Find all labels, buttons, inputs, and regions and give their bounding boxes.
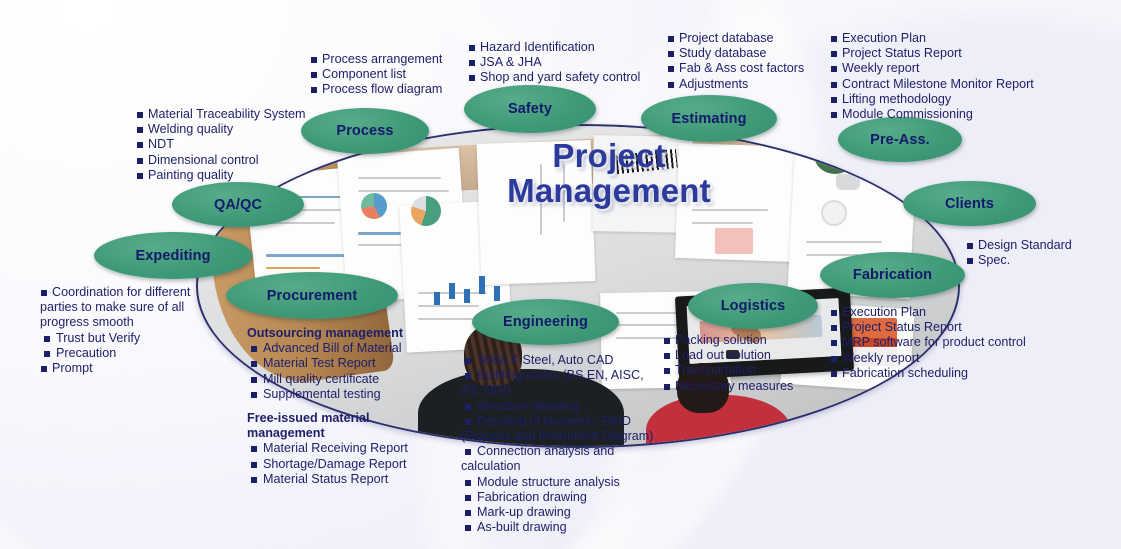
node-estimating[interactable]: Estimating (641, 95, 777, 142)
list-item: Fab & Ass cost factors (667, 61, 837, 76)
list-item: Trust but Verify (40, 331, 240, 346)
node-logistics[interactable]: Logistics (688, 283, 818, 329)
list-safety: Hazard Identification JSA & JHA Shop and… (468, 40, 668, 86)
list-process: Process arrangement Component list Proce… (310, 52, 490, 98)
list-item: Dimensional control (136, 153, 336, 168)
list-item: Weekly report (830, 61, 1060, 76)
list-item: Building codes (BS EN, AISC, (461, 368, 671, 383)
list-heading-line-2: management (247, 426, 467, 441)
list-item: Execution Plan (830, 305, 1070, 320)
list-item: Material Test Report (247, 356, 467, 371)
list-item-continuation: AS, DIN) (461, 383, 671, 398)
list-item: Coordination for different (40, 285, 240, 300)
list-item: As-built drawing (461, 520, 671, 535)
list-item: Structure detailing (461, 399, 671, 414)
node-clients[interactable]: Clients (903, 181, 1036, 226)
list-item: Advanced Bill of Material (247, 341, 467, 356)
list-item: Connection analysis and (461, 444, 671, 459)
list-item: Module Commissioning (830, 107, 1060, 122)
list-item: Shortage/Damage Report (247, 457, 467, 472)
node-label: Safety (508, 101, 552, 117)
list-item: Project Status Report (830, 46, 1060, 61)
node-label: Pre-Ass. (870, 132, 930, 148)
list-item: Precaution (40, 346, 240, 361)
list-item: Process arrangement (310, 52, 490, 67)
list-logistics: Packing solution Load out solution Trans… (663, 333, 833, 394)
list-item-continuation: (Process and Instrument Diagram) (461, 429, 671, 444)
list-item: Process flow diagram (310, 82, 490, 97)
list-item: Project database (667, 31, 837, 46)
list-item: Load out solution (663, 348, 833, 363)
node-label: Expediting (135, 248, 210, 264)
node-expediting[interactable]: Expediting (94, 232, 252, 279)
node-label: QA/QC (214, 197, 262, 213)
node-procurement[interactable]: Procurement (226, 272, 398, 319)
list-item: Study database (667, 46, 837, 61)
list-item: Welding quality (136, 122, 336, 137)
list-expediting: Coordination for different parties to ma… (40, 285, 240, 376)
list-clients: Design Standard Spec. (966, 238, 1116, 268)
list-item: Material Status Report (247, 472, 467, 487)
list-qa-qc: Material Traceability System Welding qua… (136, 107, 336, 183)
list-engineering: Tekla X-Steel, Auto CAD Building codes (… (461, 353, 671, 535)
list-item: Lifting methodology (830, 92, 1060, 107)
list-item: Necessary measures (663, 379, 833, 394)
list-procurement: Outsourcing management Advanced Bill of … (247, 326, 467, 487)
list-item: Fabrication drawing (461, 490, 671, 505)
node-pre-ass[interactable]: Pre-Ass. (838, 117, 962, 162)
list-item: Transportation (663, 363, 833, 378)
node-label: Logistics (721, 298, 786, 314)
project-management-infographic: Project Management Process Safety Estima… (0, 0, 1121, 549)
list-item: Weekly report (830, 351, 1070, 366)
list-fabrication: Execution Plan Project Status Report MRP… (830, 305, 1070, 381)
list-heading-line-1: Free-issued material (247, 411, 467, 426)
node-label: Clients (945, 196, 994, 212)
list-item-continuation: progress smooth (40, 315, 240, 330)
list-item: Detailing of Isometric, P&ID (461, 414, 671, 429)
list-item-continuation: parties to make sure of all (40, 300, 240, 315)
list-pre-ass: Execution Plan Project Status Report Wee… (830, 31, 1060, 122)
list-item: Component list (310, 67, 490, 82)
list-item: Material Receiving Report (247, 441, 467, 456)
list-item: MRP software for product control (830, 335, 1070, 350)
list-item: Shop and yard safety control (468, 70, 668, 85)
list-item: Project Status Report (830, 320, 1070, 335)
list-item: Mark-up drawing (461, 505, 671, 520)
list-item: Material Traceability System (136, 107, 336, 122)
list-item: Mill quality certificate (247, 372, 467, 387)
list-item: NDT (136, 137, 336, 152)
list-item: Spec. (966, 253, 1116, 268)
list-item: JSA & JHA (468, 55, 668, 70)
list-item: Execution Plan (830, 31, 1060, 46)
list-item: Design Standard (966, 238, 1116, 253)
list-estimating: Project database Study database Fab & As… (667, 31, 837, 92)
list-item: Supplemental testing (247, 387, 467, 402)
list-item: Adjustments (667, 77, 837, 92)
list-item: Fabrication scheduling (830, 366, 1070, 381)
node-label: Engineering (503, 314, 588, 330)
list-item: Contract Milestone Monitor Report (830, 77, 1060, 92)
list-item: Module structure analysis (461, 475, 671, 490)
node-label: Procurement (267, 288, 358, 304)
list-item: Hazard Identification (468, 40, 668, 55)
list-item-continuation: calculation (461, 459, 671, 474)
list-item: Tekla X-Steel, Auto CAD (461, 353, 671, 368)
node-label: Estimating (671, 111, 746, 127)
list-item: Prompt (40, 361, 240, 376)
node-engineering[interactable]: Engineering (472, 299, 619, 345)
node-label: Process (336, 123, 393, 139)
list-heading: Outsourcing management (247, 326, 467, 341)
list-item: Packing solution (663, 333, 833, 348)
node-qa-qc[interactable]: QA/QC (172, 182, 304, 227)
node-fabrication[interactable]: Fabrication (820, 252, 965, 298)
node-label: Fabrication (853, 267, 932, 283)
list-item: Painting quality (136, 168, 336, 183)
